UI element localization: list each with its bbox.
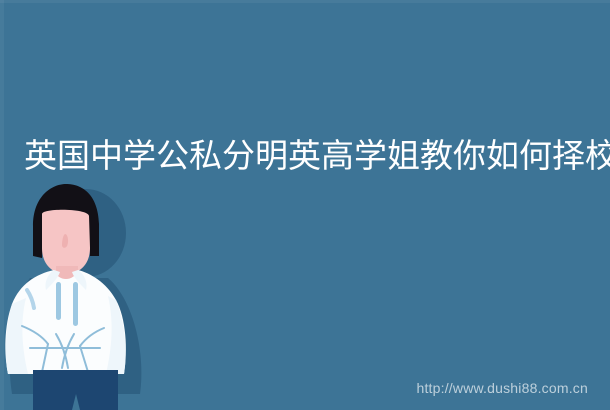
navy-pants-icon [33, 370, 118, 410]
page-title: 英国中学公私分明英高学姐教你如何择校 [24, 134, 599, 178]
watermark-url: http://www.dushi88.com.cn [416, 380, 588, 396]
top-edge-band [0, 0, 610, 3]
face-icon [42, 210, 90, 274]
banner-image: 英国中学公私分明英高学姐教你如何择校 http://www.dushi88.co… [0, 0, 610, 410]
student-character-illustration [0, 178, 150, 410]
